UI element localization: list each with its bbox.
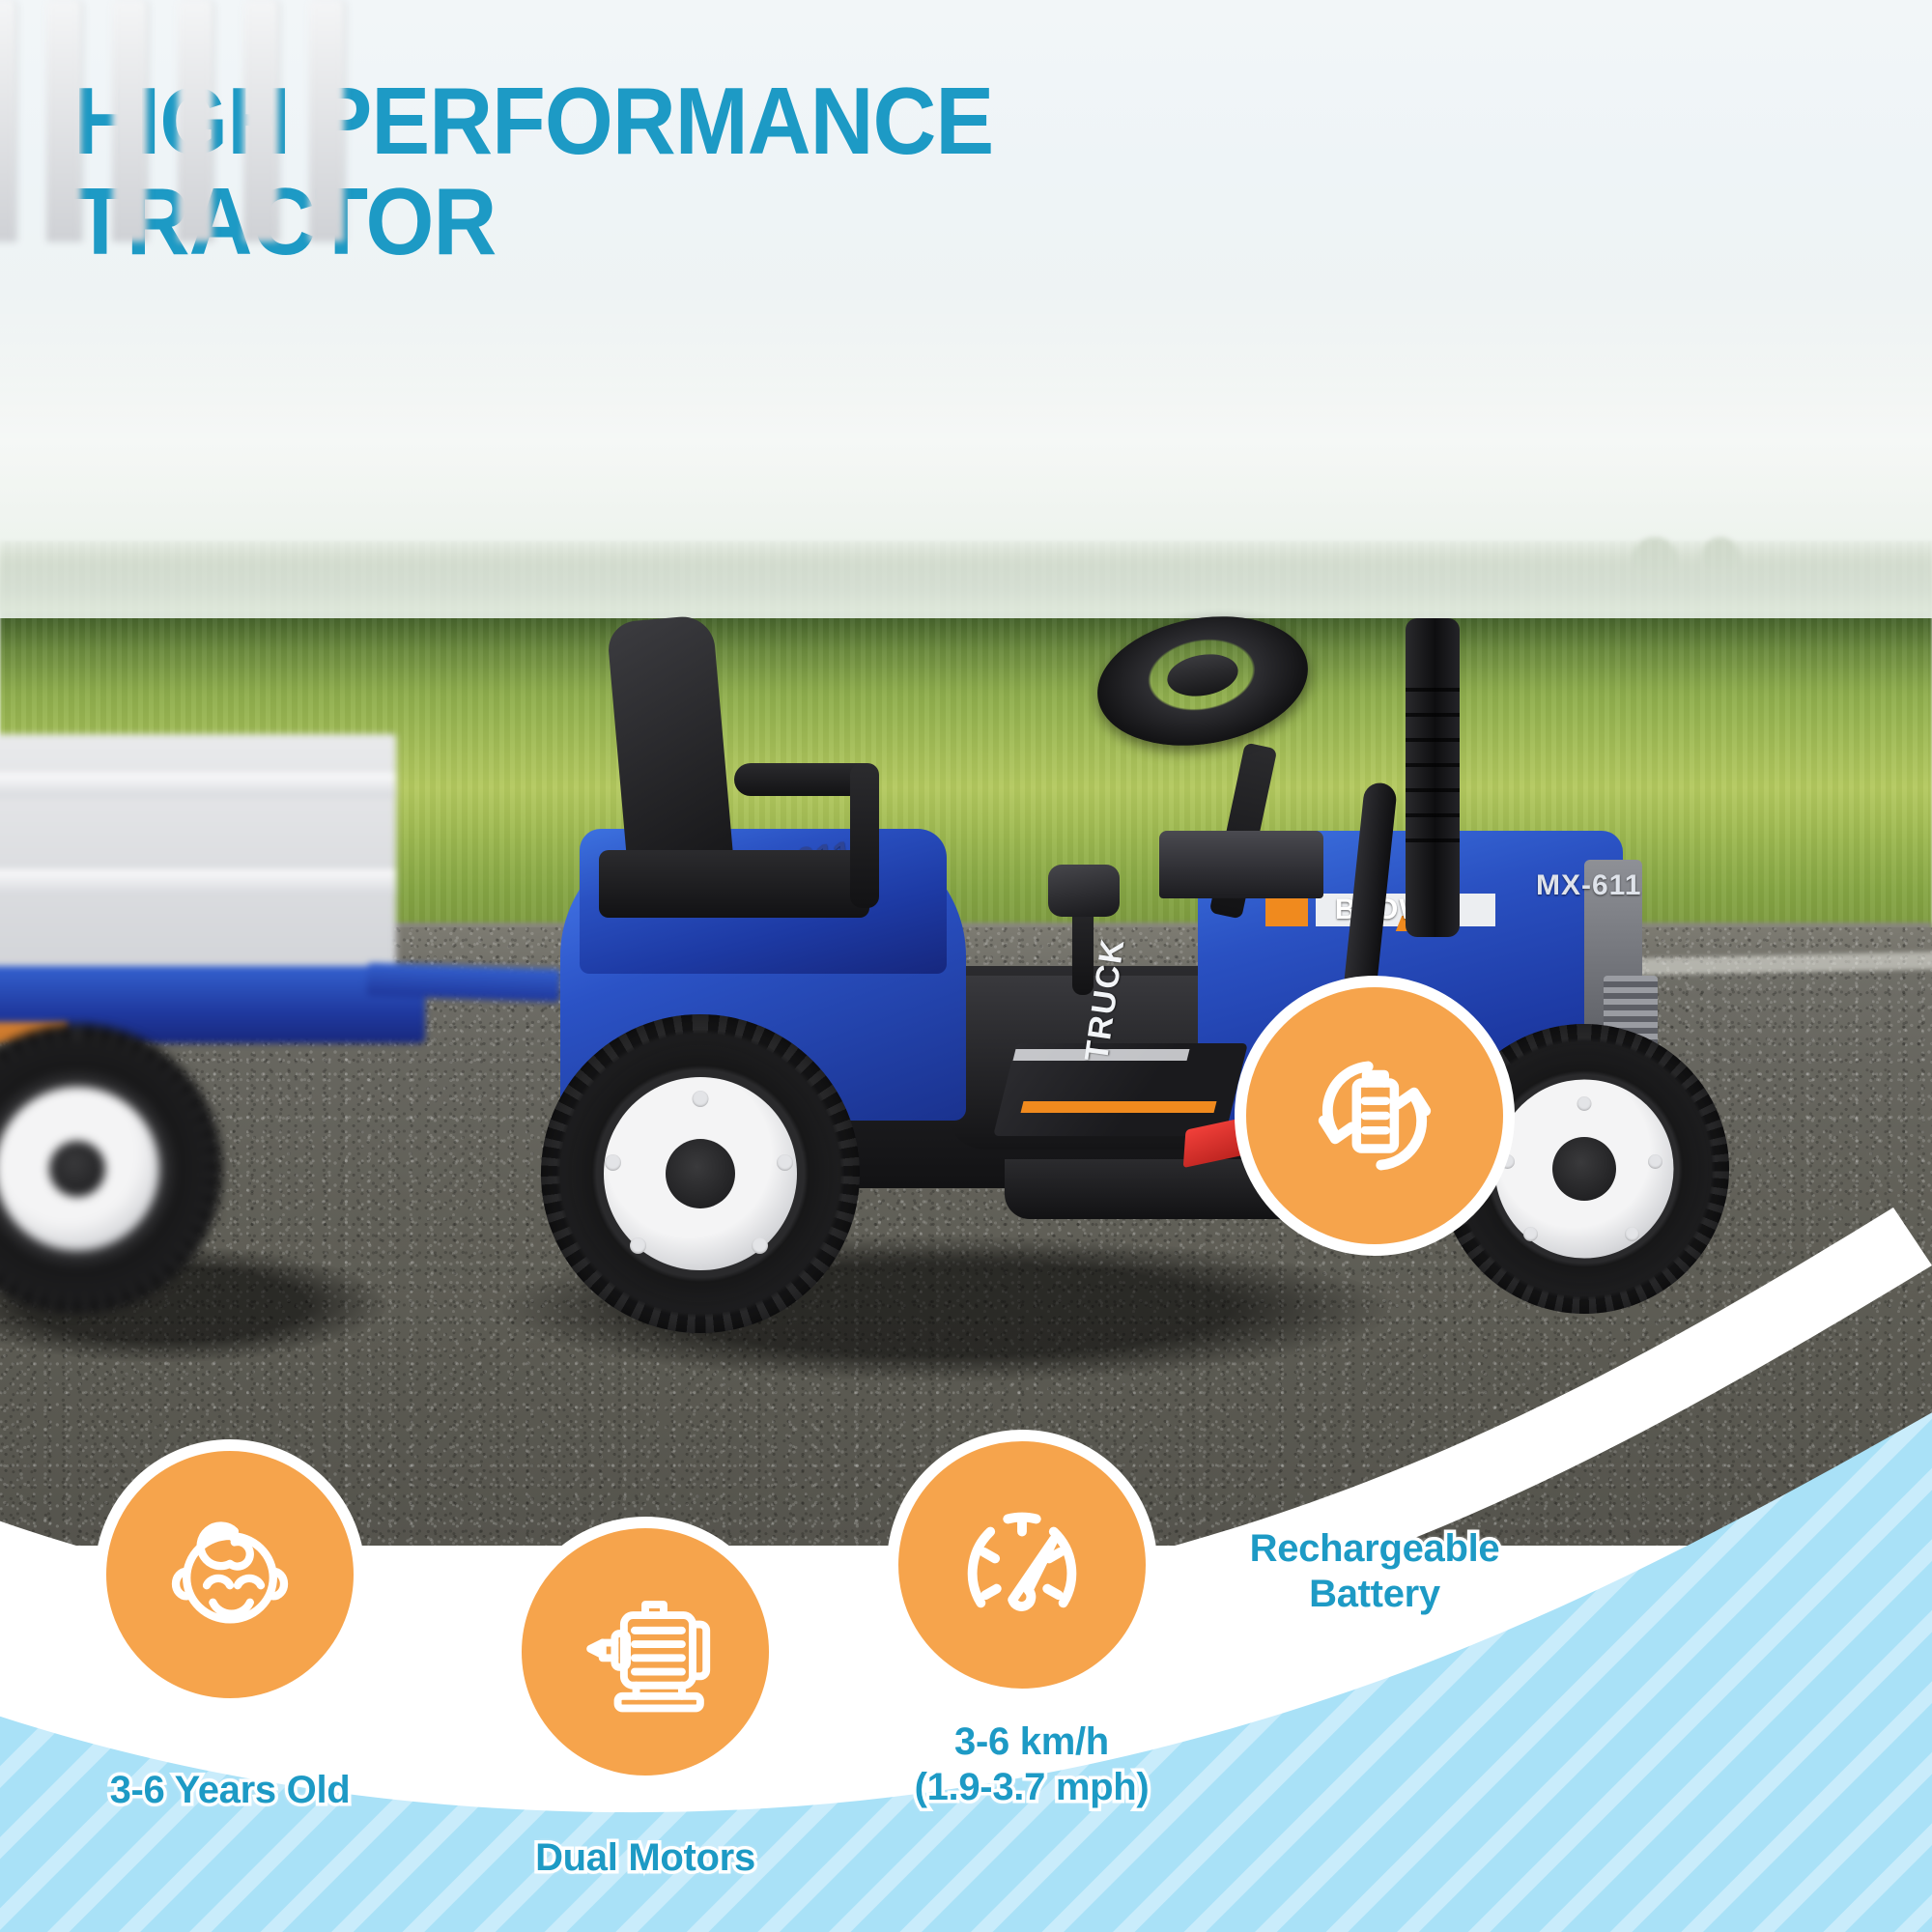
- gear-shifter-knob: [1048, 865, 1120, 917]
- tractor-roll-bar-post: [850, 763, 879, 908]
- tractor-seat-base: [599, 850, 869, 918]
- trailer-tongue: [366, 963, 560, 1003]
- feature-badge-speed[interactable]: [887, 1430, 1157, 1700]
- body-stripe-orange: [1265, 894, 1308, 926]
- feature-label-speed: 3-6 km/h (1.9-3.7 mph): [819, 1719, 1244, 1810]
- feature-label-battery: Rechargeable Battery: [1162, 1526, 1587, 1617]
- rechargeable-battery-icon: [1293, 1034, 1457, 1198]
- feature-badge-battery[interactable]: [1235, 976, 1515, 1256]
- feature-label-age: 3-6 Years Old: [17, 1768, 442, 1813]
- trailer-fence: [0, 734, 396, 976]
- electric-motor-icon: [569, 1576, 722, 1728]
- tractor-dashboard: [1159, 831, 1323, 898]
- speedometer-icon: [943, 1486, 1101, 1644]
- baby-face-icon: [153, 1497, 307, 1652]
- feature-badge-motors[interactable]: [510, 1517, 781, 1787]
- truck-decal-stripe-orange: [1021, 1101, 1217, 1113]
- feature-label-motors: Dual Motors: [433, 1835, 858, 1881]
- feature-badge-age[interactable]: [95, 1439, 365, 1710]
- product-marketing-image: HIGH PERFORMANCE TRACTOR BLOW MX-611: [0, 0, 1932, 1932]
- body-model-badge: MX-611: [1536, 869, 1641, 902]
- exhaust-stack: [1406, 618, 1460, 937]
